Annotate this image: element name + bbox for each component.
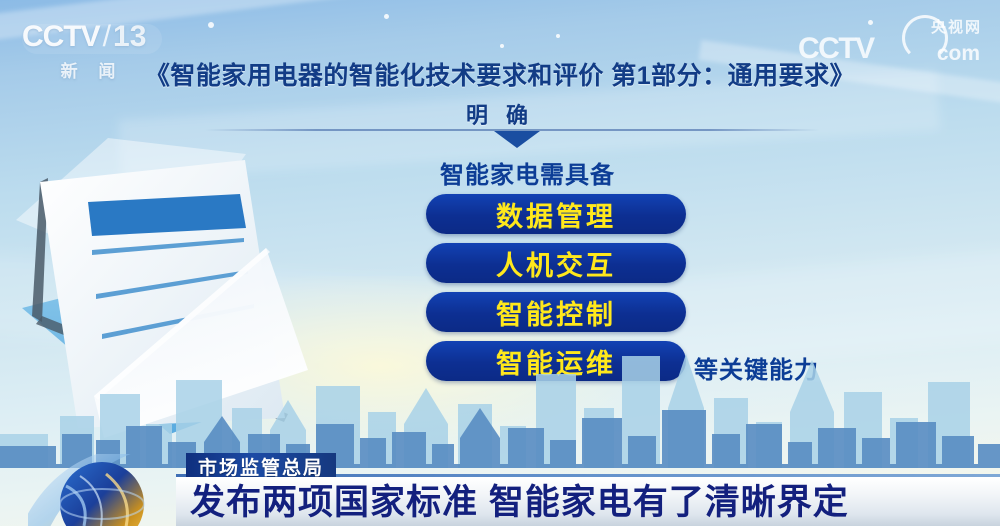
- cctv-channel-logo: CCTV / 13 新 闻: [22, 22, 162, 80]
- headline-text: 发布两项国家标准 智能家电有了清晰界定: [176, 485, 849, 520]
- cctv-com-watermark: CCTV 央视网 com: [798, 14, 984, 66]
- logo-row: CCTV / 13: [22, 22, 162, 52]
- logo-pill-background: [22, 24, 162, 54]
- sparkle-dot: [500, 44, 504, 48]
- sparkle-dot: [384, 14, 389, 19]
- channel-number: 13: [113, 22, 146, 52]
- page-title: 《智能家用电器的智能化技术要求和评价 第1部分：通用要求》: [0, 56, 1000, 92]
- city-skyline-graphic: [0, 338, 1000, 468]
- lower-third: 市场监管总局 发布两项国家标准 智能家电有了清晰界定: [0, 454, 1000, 526]
- capability-pill[interactable]: 数据管理: [426, 194, 686, 234]
- watermark-com-label: com: [937, 43, 980, 64]
- sparkle-dot: [556, 34, 560, 38]
- channel-subtitle: 新 闻: [22, 57, 162, 82]
- globe-icon: [28, 454, 158, 526]
- capability-pill[interactable]: 智能控制: [426, 292, 686, 332]
- agency-badge: 市场监管总局: [186, 453, 336, 480]
- title-block: 《智能家用电器的智能化技术要求和评价 第1部分：通用要求》 明 确: [0, 56, 1000, 130]
- headline-bar: 发布两项国家标准 智能家电有了清晰界定: [176, 477, 1000, 526]
- capabilities-heading: 智能家电需具备: [440, 155, 615, 190]
- background-streak: [0, 0, 378, 44]
- watermark-wordmark: CCTV: [798, 34, 874, 64]
- sparkle-dot: [868, 20, 873, 25]
- sparkle-dot: [208, 22, 214, 28]
- logo-slash: /: [103, 22, 111, 52]
- page-subtitle: 明 确: [0, 98, 1000, 130]
- watermark-chinese-label: 央视网: [931, 16, 982, 37]
- capability-pill[interactable]: 人机交互: [426, 243, 686, 283]
- background-streak: [699, 40, 1000, 118]
- cctv-wordmark: CCTV: [22, 22, 100, 52]
- chevron-down-icon: [494, 131, 540, 148]
- watermark-ring-icon: [902, 15, 948, 61]
- broadcast-screen: CCTV / 13 新 闻 CCTV 央视网 com: [0, 0, 1000, 526]
